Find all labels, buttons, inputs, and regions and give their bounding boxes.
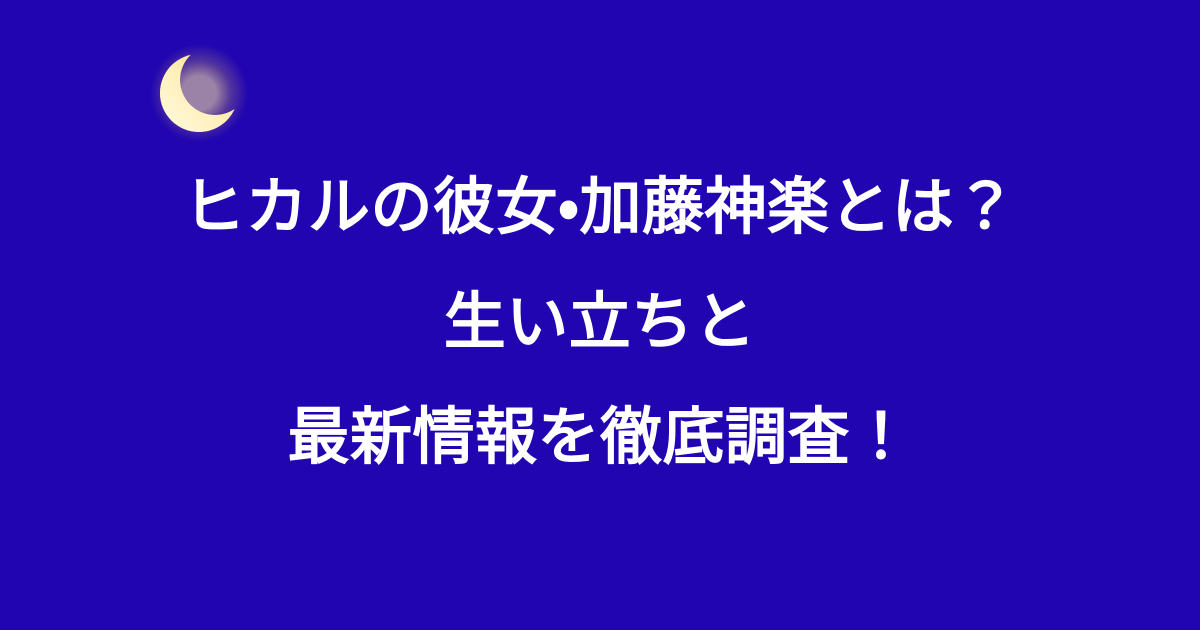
crescent-moon-icon (148, 42, 250, 144)
headline-line-3: 最新情報を徹底調査！ (0, 380, 1200, 495)
headline-line-2: 生い立ちと (0, 265, 1200, 380)
og-image-card: ヒカルの彼女・加藤神楽とは？ 生い立ちと 最新情報を徹底調査！ (0, 0, 1200, 630)
headline-line-1: ヒカルの彼女・加藤神楽とは？ (0, 150, 1200, 265)
headline-block: ヒカルの彼女・加藤神楽とは？ 生い立ちと 最新情報を徹底調査！ (0, 150, 1200, 495)
